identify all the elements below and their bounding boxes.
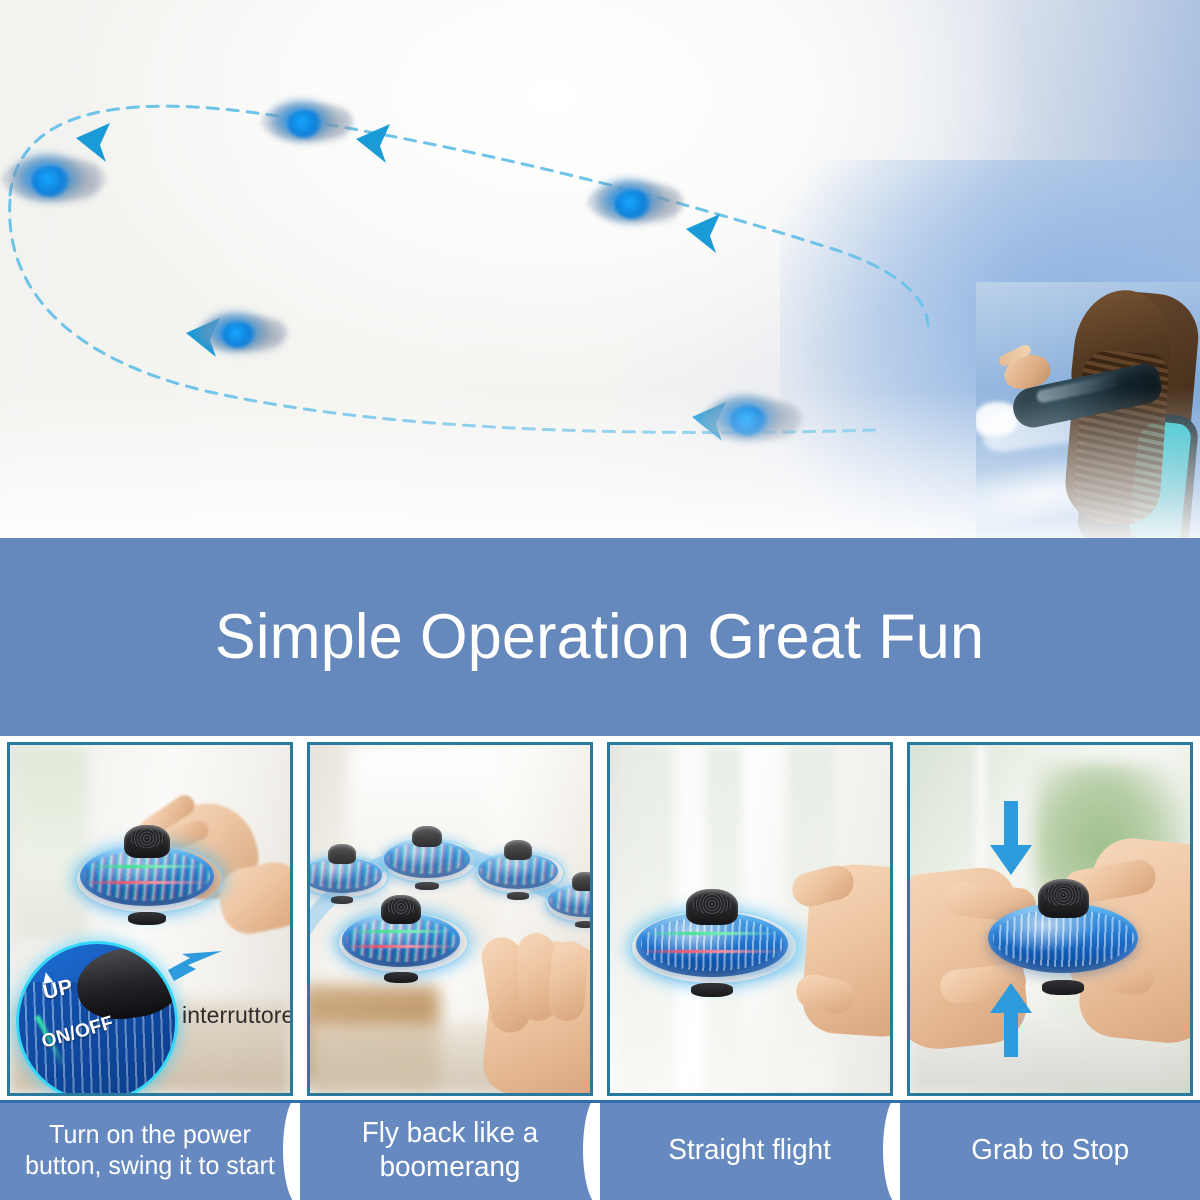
drone-foot bbox=[575, 921, 593, 928]
drone-ribs bbox=[480, 856, 555, 886]
caption-text: Straight flight bbox=[669, 1133, 831, 1167]
caption-separator bbox=[283, 1100, 300, 1200]
hub-grill-icon bbox=[692, 894, 732, 914]
panel-straight-flight[interactable] bbox=[600, 736, 900, 1100]
drone-ghost-2 bbox=[384, 825, 470, 891]
led-red bbox=[344, 945, 457, 948]
arrowhead-1 bbox=[76, 123, 110, 162]
drone-ghost-4 bbox=[548, 871, 593, 929]
hub-grill-icon bbox=[1044, 884, 1083, 906]
drone-hovering bbox=[636, 887, 788, 999]
drone-spinning bbox=[80, 823, 214, 927]
arrowhead-3 bbox=[686, 214, 720, 253]
arrow-down-icon bbox=[988, 801, 1034, 877]
caption-top-rule bbox=[0, 1100, 300, 1103]
caption-text: Grab to Stop bbox=[971, 1133, 1129, 1167]
hand-finger bbox=[547, 940, 588, 1022]
led-red bbox=[639, 950, 785, 953]
hero-image bbox=[0, 0, 1200, 538]
drone-ghost-3 bbox=[478, 839, 558, 901]
hub-grill-icon bbox=[386, 899, 417, 916]
panel-frame bbox=[607, 742, 893, 1096]
interruttore-label: interruttore bbox=[182, 1002, 293, 1029]
pointer-arrow-icon bbox=[162, 945, 224, 989]
drone-foot bbox=[691, 983, 734, 996]
drone-foreground bbox=[342, 893, 460, 985]
drone-foot bbox=[1042, 980, 1084, 994]
hub-grill-icon bbox=[130, 829, 165, 848]
caption-separator bbox=[583, 1100, 600, 1200]
drone-hub bbox=[572, 872, 593, 891]
caption-top-rule bbox=[900, 1100, 1200, 1103]
arrow-up-icon bbox=[988, 981, 1034, 1057]
caption-grab-to-stop: Grab to Stop bbox=[900, 1100, 1200, 1200]
drone-hub bbox=[504, 840, 531, 860]
drone-foot bbox=[128, 912, 166, 924]
caption-text: Fly back like a boomerang bbox=[319, 1116, 580, 1184]
drone-ribs bbox=[346, 918, 457, 962]
panel-frame bbox=[307, 742, 593, 1096]
drone-ribs bbox=[993, 909, 1134, 967]
caption-strip: Turn on the power button, swing it to st… bbox=[0, 1100, 1200, 1200]
drone-foot bbox=[384, 972, 417, 983]
caption-straight-flight: Straight flight bbox=[600, 1100, 900, 1200]
led-green bbox=[349, 930, 453, 933]
drone-foot bbox=[507, 892, 529, 899]
page-title: Simple Operation Great Fun bbox=[215, 606, 984, 669]
caption-separator bbox=[883, 1100, 900, 1200]
switch-closeup-inset: UP ON/OFF bbox=[16, 941, 178, 1096]
caption-boomerang: Fly back like a boomerang bbox=[300, 1100, 600, 1200]
flight-path-upper bbox=[10, 106, 928, 330]
caption-text: Turn on the power button, swing it to st… bbox=[19, 1119, 280, 1180]
panel-power-on[interactable]: UP ON/OFF interruttore bbox=[0, 736, 300, 1100]
panel-frame: UP ON/OFF interruttore bbox=[7, 742, 293, 1096]
caption-power-on: Turn on the power button, swing it to st… bbox=[0, 1100, 300, 1200]
feature-panel-strip: UP ON/OFF interruttore bbox=[0, 736, 1200, 1100]
drone-hub bbox=[412, 826, 441, 847]
drone-hub bbox=[328, 844, 355, 864]
panel-boomerang[interactable] bbox=[300, 736, 600, 1100]
panel-frame bbox=[907, 742, 1193, 1096]
arrowhead-2 bbox=[356, 124, 390, 163]
led-green bbox=[645, 932, 779, 935]
panel-grab-to-stop[interactable] bbox=[900, 736, 1200, 1100]
drone-held bbox=[988, 877, 1138, 997]
arrowhead-4 bbox=[186, 318, 220, 357]
led-green bbox=[88, 865, 206, 868]
drone-ribs bbox=[641, 917, 784, 971]
drone-foot bbox=[415, 882, 439, 890]
caption-top-rule bbox=[600, 1100, 900, 1103]
window bbox=[16, 749, 88, 939]
led-red bbox=[83, 881, 212, 884]
drone-ribs bbox=[84, 851, 210, 901]
product-infographic: Simple Operation Great Fun bbox=[0, 0, 1200, 1200]
haze-overlay bbox=[0, 388, 1200, 538]
headline-banner: Simple Operation Great Fun bbox=[0, 538, 1200, 736]
caption-top-rule bbox=[300, 1100, 600, 1103]
